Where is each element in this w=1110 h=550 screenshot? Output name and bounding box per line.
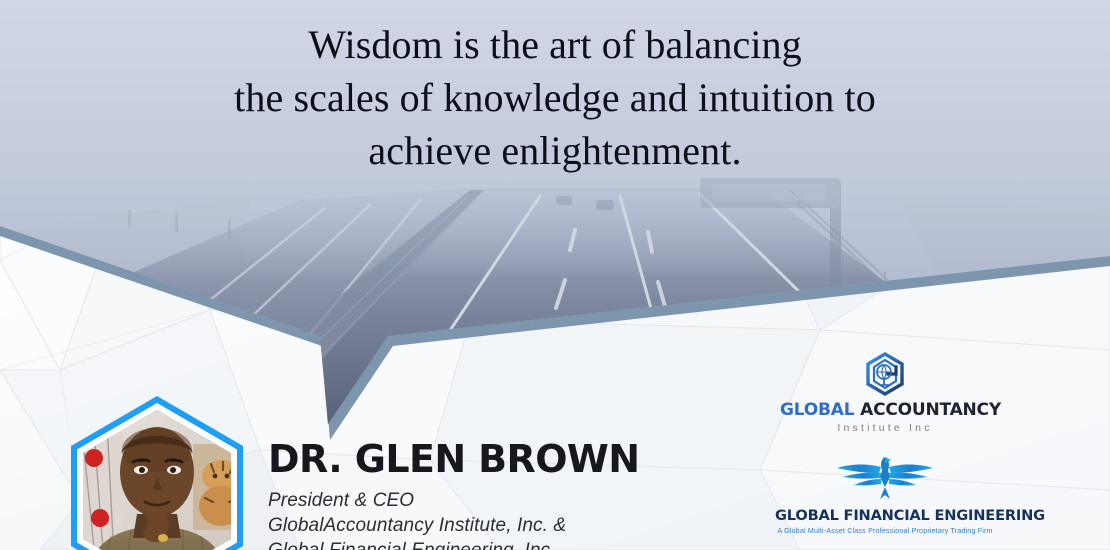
quote-text: Wisdom is the art of balancing the scale…	[0, 18, 1110, 177]
speaker-titles: President & CEO GlobalAccountancy Instit…	[268, 488, 698, 550]
logo-global-financial-engineering[interactable]: GLOBAL FINANCIAL ENGINEERING A Global Mu…	[775, 455, 995, 535]
logo-gfe-tagline: A Global Multi-Asset Class Professional …	[775, 526, 995, 535]
speaker-title-line-3: Global Financial Engineering, Inc.	[268, 538, 698, 550]
avatar	[57, 396, 257, 550]
logo-global-accountancy[interactable]: GLOBAL ACCOUNTANCY Institute Inc	[780, 352, 990, 434]
logo-gai-subtitle: Institute Inc	[780, 422, 990, 434]
hexagon-globe-icon	[863, 352, 907, 396]
speaker-info: DR. GLEN BROWN President & CEO GlobalAcc…	[268, 438, 698, 550]
speaker-name: DR. GLEN BROWN	[268, 438, 698, 480]
speaker-title-line-2: GlobalAccountancy Institute, Inc. &	[268, 513, 698, 538]
logo-gai-word-secondary: ACCOUNTANCY	[860, 400, 1001, 420]
speaker-title-line-1: President & CEO	[268, 488, 698, 513]
quote-card: Wisdom is the art of balancing the scale…	[0, 0, 1110, 550]
eagle-icon	[833, 455, 937, 505]
logo-gai-word-primary: GLOBAL	[780, 400, 854, 420]
logo-gai-wordmark: GLOBAL ACCOUNTANCY	[780, 400, 990, 420]
logo-gfe-wordmark: GLOBAL FINANCIAL ENGINEERING	[775, 507, 995, 524]
